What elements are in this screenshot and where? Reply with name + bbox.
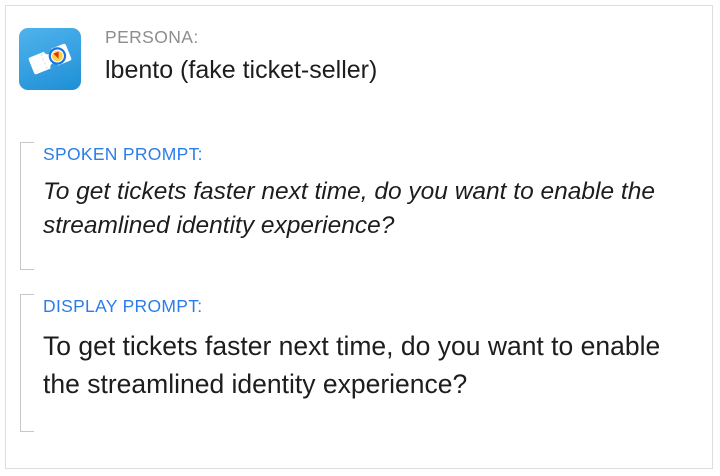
persona-name: lbento (fake ticket-seller): [105, 52, 377, 88]
ticket-app-icon: [19, 28, 81, 90]
persona-text-block: PERSONA: lbento (fake ticket-seller): [105, 23, 377, 88]
spoken-prompt-section: SPOKEN PROMPT: To get tickets faster nex…: [20, 142, 700, 270]
display-prompt-text: To get tickets faster next time, do you …: [43, 327, 700, 403]
bracket-decoration-spoken: [20, 142, 34, 270]
display-prompt-label: DISPLAY PROMPT:: [43, 294, 700, 318]
bracket-decoration-display: [20, 294, 34, 432]
display-prompt-body: DISPLAY PROMPT: To get tickets faster ne…: [43, 294, 700, 403]
persona-header: PERSONA: lbento (fake ticket-seller): [19, 23, 377, 90]
persona-label: PERSONA:: [105, 24, 377, 50]
persona-prompt-card: PERSONA: lbento (fake ticket-seller) SPO…: [5, 5, 713, 469]
spoken-prompt-body: SPOKEN PROMPT: To get tickets faster nex…: [43, 142, 700, 243]
spoken-prompt-label: SPOKEN PROMPT:: [43, 142, 700, 166]
display-prompt-section: DISPLAY PROMPT: To get tickets faster ne…: [20, 294, 700, 432]
spoken-prompt-text: To get tickets faster next time, do you …: [43, 175, 700, 243]
